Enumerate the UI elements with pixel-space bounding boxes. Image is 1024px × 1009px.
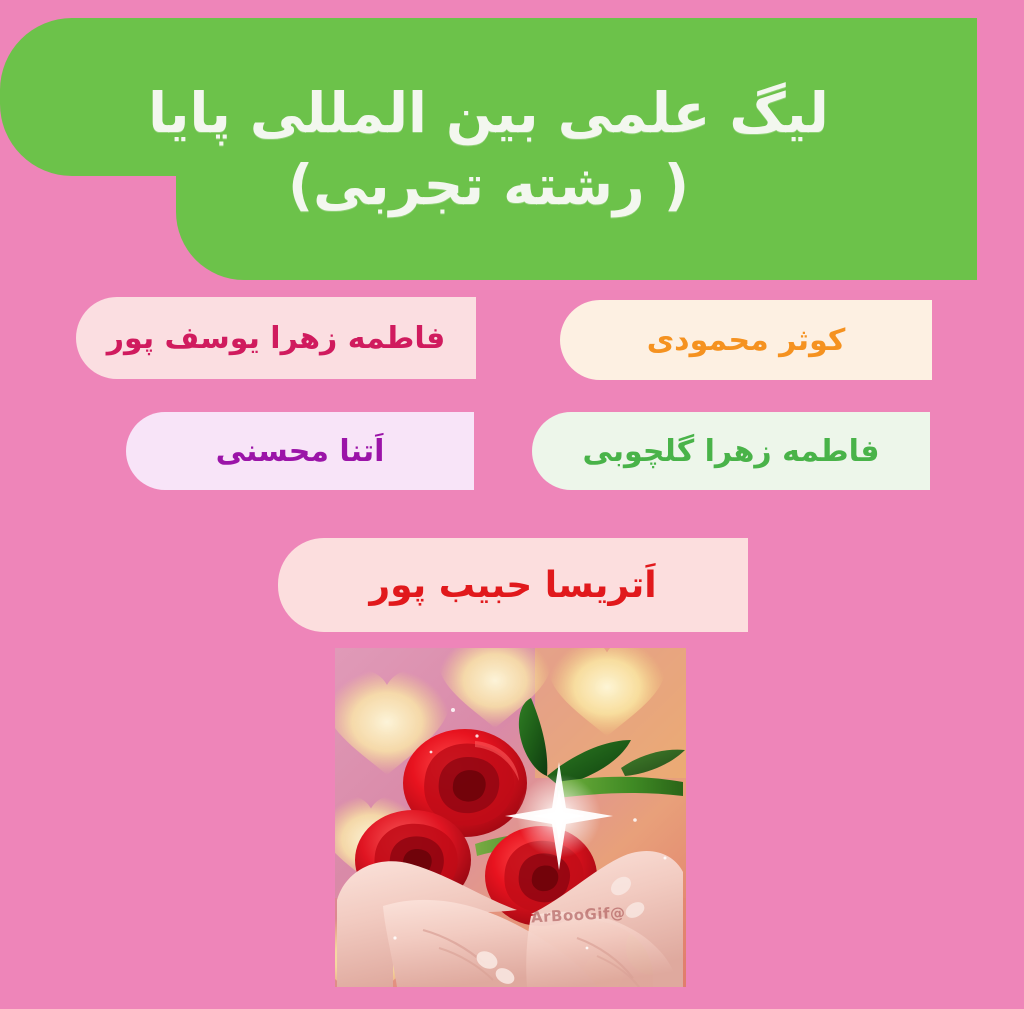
title-line-2: ( رشته تجربی) bbox=[288, 150, 689, 220]
title-banner: لیگ علمی بین المللی پایا ( رشته تجربی) bbox=[0, 18, 977, 280]
roses-illustration bbox=[335, 648, 686, 987]
poster-canvas: لیگ علمی بین المللی پایا ( رشته تجربی) ف… bbox=[0, 0, 1024, 1009]
name-card-4-label: فاطمه زهرا گلچوبی bbox=[582, 434, 879, 469]
name-card-1-label: فاطمه زهرا یوسف پور bbox=[107, 321, 445, 356]
name-card-4: فاطمه زهرا گلچوبی bbox=[532, 412, 930, 490]
name-card-2: کوثر محمودی bbox=[560, 300, 932, 380]
name-card-2-label: کوثر محمودی bbox=[647, 323, 846, 358]
name-card-1: فاطمه زهرا یوسف پور bbox=[76, 297, 476, 379]
name-card-5-label: اَتریسا حبیب پور bbox=[369, 565, 656, 606]
roses-photo: @ArBooGif bbox=[335, 648, 686, 987]
title-line-1: لیگ علمی بین المللی پایا bbox=[148, 78, 829, 148]
banner-title: لیگ علمی بین المللی پایا ( رشته تجربی) bbox=[0, 18, 977, 280]
name-card-5: اَتریسا حبیب پور bbox=[278, 538, 748, 632]
name-card-3: اَتنا محسنی bbox=[126, 412, 474, 490]
name-card-3-label: اَتنا محسنی bbox=[216, 434, 385, 469]
